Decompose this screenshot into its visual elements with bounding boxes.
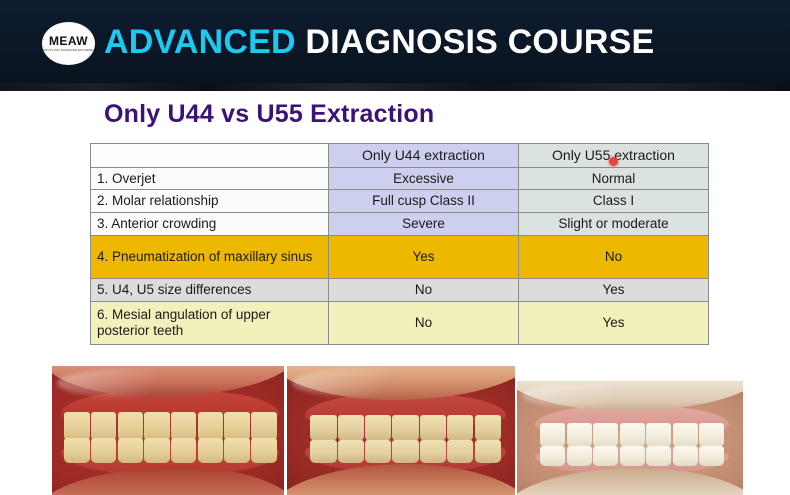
photo-2-highlight — [292, 369, 429, 397]
photo-1-upper-gum — [61, 391, 279, 425]
banner-title-rest: DIAGNOSIS COURSE — [305, 23, 654, 61]
row-label: 3. Anterior crowding — [91, 213, 329, 236]
page-title: Only U44 vs U55 Extraction — [104, 100, 434, 129]
table-row-highlighted: 4. Pneumatization of maxillary sinus Yes… — [91, 236, 709, 279]
intraoral-photo-3 — [517, 381, 743, 495]
photo-2-lower-teeth — [310, 440, 502, 463]
table-row: 3. Anterior crowding Severe Slight or mo… — [91, 213, 709, 236]
row-value-u44: Excessive — [329, 167, 519, 190]
header-cell-u44: Only U44 extraction — [329, 144, 519, 168]
photo-2-background — [287, 366, 515, 495]
photo-3-upper-gum — [535, 406, 729, 433]
photo-2-lower-gum — [305, 443, 506, 471]
row-value-u55: Slight or moderate — [519, 213, 709, 236]
table-row: 2. Molar relationship Full cusp Class II… — [91, 190, 709, 213]
row-label: 5. U4, U5 size differences — [91, 279, 329, 302]
row-label: 2. Molar relationship — [91, 190, 329, 213]
photo-2-upper-teeth — [310, 415, 502, 441]
intraoral-photo-1 — [52, 366, 284, 495]
header-cell-blank — [91, 144, 329, 168]
photo-3-lower-gum — [535, 449, 729, 474]
row-value-u44: Yes — [329, 236, 519, 279]
photo-1-lower-gum — [61, 443, 279, 474]
meaw-logo: MEAW MULTILOOP EDGEWISE ARCHWIRE — [42, 22, 95, 65]
photo-1-lower-lip — [52, 467, 284, 495]
photo-3-background — [517, 381, 743, 495]
photo-1-background — [52, 366, 284, 495]
row-label: 1. Overjet — [91, 167, 329, 190]
row-value-u55: Normal — [519, 167, 709, 190]
photo-3-upper-teeth — [540, 423, 725, 447]
photo-1-upper-teeth — [64, 412, 277, 440]
photo-2-lower-lip — [287, 464, 515, 495]
cursor-pointer — [609, 157, 618, 166]
row-value-u55: Yes — [519, 302, 709, 345]
table-row: 5. U4, U5 size differences No Yes — [91, 279, 709, 302]
banner-title-highlight: ADVANCED — [104, 23, 296, 61]
row-value-u55: No — [519, 236, 709, 279]
row-value-u44: No — [329, 279, 519, 302]
photo-1-highlight — [57, 369, 196, 397]
row-label: 6. Mesial angulation of upper posterior … — [91, 302, 329, 345]
photo-3-lower-teeth — [540, 446, 725, 467]
photo-3-highlight — [522, 383, 658, 408]
banner-bottom-strip — [0, 83, 790, 91]
photo-2-upper-gum — [305, 394, 506, 425]
photo-2-upper-lip — [287, 366, 515, 400]
table-body: Only U44 extraction Only U55 extraction … — [91, 144, 709, 345]
table-row: 6. Mesial angulation of upper posterior … — [91, 302, 709, 345]
row-value-u44: Severe — [329, 213, 519, 236]
row-value-u44: No — [329, 302, 519, 345]
slide-root: MEAW MULTILOOP EDGEWISE ARCHWIRE ADVANCE… — [0, 0, 790, 495]
photo-1-lower-teeth — [64, 438, 277, 463]
photo-3-lower-lip — [517, 468, 743, 495]
course-banner: MEAW MULTILOOP EDGEWISE ARCHWIRE ADVANCE… — [0, 0, 790, 83]
photo-1-upper-lip — [52, 366, 284, 397]
row-value-u44: Full cusp Class II — [329, 190, 519, 213]
photo-3-upper-lip — [517, 381, 743, 411]
table-row: 1. Overjet Excessive Normal — [91, 167, 709, 190]
row-label: 4. Pneumatization of maxillary sinus — [91, 236, 329, 279]
row-value-u55: Yes — [519, 279, 709, 302]
logo-text: MEAW — [49, 35, 88, 47]
row-value-u55: Class I — [519, 190, 709, 213]
banner-title: ADVANCED DIAGNOSIS COURSE — [104, 20, 654, 64]
intraoral-photo-2 — [287, 366, 515, 495]
comparison-table: Only U44 extraction Only U55 extraction … — [90, 143, 709, 345]
logo-subtext: MULTILOOP EDGEWISE ARCHWIRE — [44, 49, 94, 52]
